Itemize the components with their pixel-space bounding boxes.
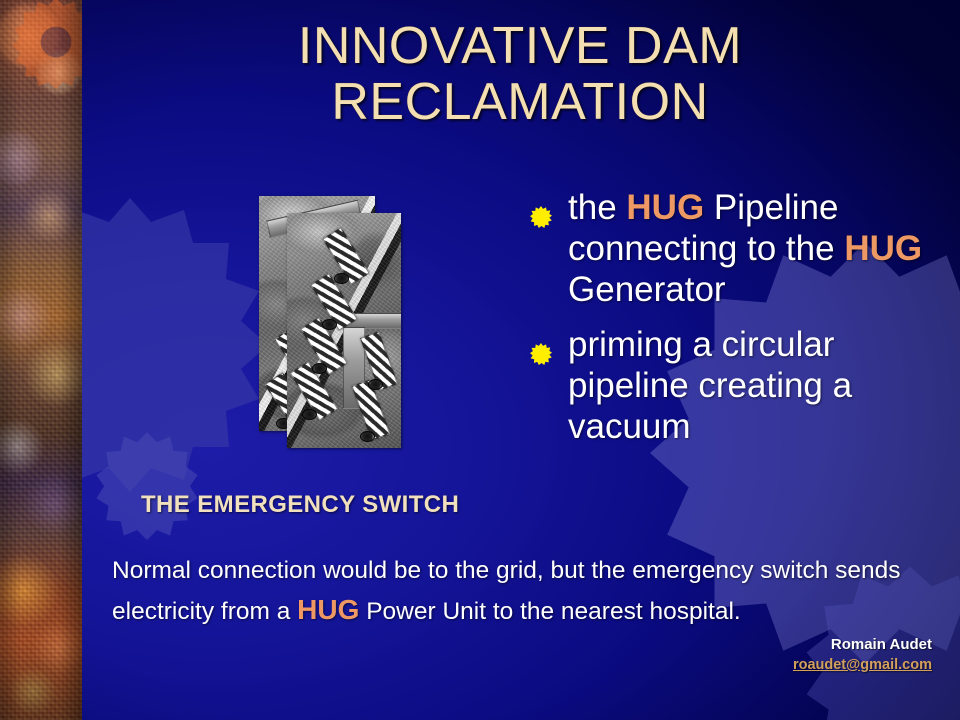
bullet-item-2: priming a circular pipeline creating a v… [528,325,948,448]
hug-accent: HUG [297,594,359,625]
presentation-slide: INNOVATIVE DAM RECLAMATION [0,0,960,720]
hug-accent: HUG [844,229,922,268]
author-email-link[interactable]: roaudet@gmail.com [793,655,932,675]
bullet-text-2: priming a circular pipeline creating a v… [568,325,852,446]
dam-photo-front [287,213,401,448]
sunburst-bullet-icon [530,334,552,356]
bullet-item-1: the HUG Pipeline connecting to the HUG G… [528,188,948,311]
bullet-list: the HUG Pipeline connecting to the HUG G… [528,188,948,462]
dam-photo-group [259,196,401,448]
author-credit: Romain Audet roaudet@gmail.com [793,634,932,675]
sunburst-bullet-icon [530,197,552,219]
footnote-text: Normal connection would be to the grid, … [112,552,902,632]
slide-title: INNOVATIVE DAM RECLAMATION [120,18,920,130]
photo-caption: THE EMERGENCY SWITCH [141,491,459,519]
hug-accent: HUG [626,188,704,227]
decorative-side-border [0,0,82,720]
author-name: Romain Audet [793,634,932,655]
footnote-part-2: Power Unit to the nearest hospital. [359,598,740,625]
bullet-text-1: the HUG Pipeline connecting to the HUG G… [568,188,922,309]
